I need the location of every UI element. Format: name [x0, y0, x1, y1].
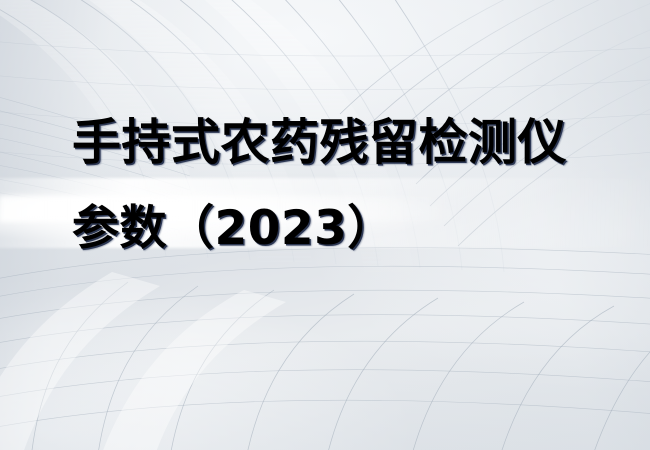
title-slide: 手持式农药残留检测仪 参数（2023）	[0, 0, 650, 450]
slide-title-line-1: 手持式农药残留检测仪	[72, 118, 592, 167]
slide-title-block: 手持式农药残留检测仪 参数（2023）	[72, 118, 592, 252]
slide-title-line-2: 参数（2023）	[72, 205, 592, 252]
